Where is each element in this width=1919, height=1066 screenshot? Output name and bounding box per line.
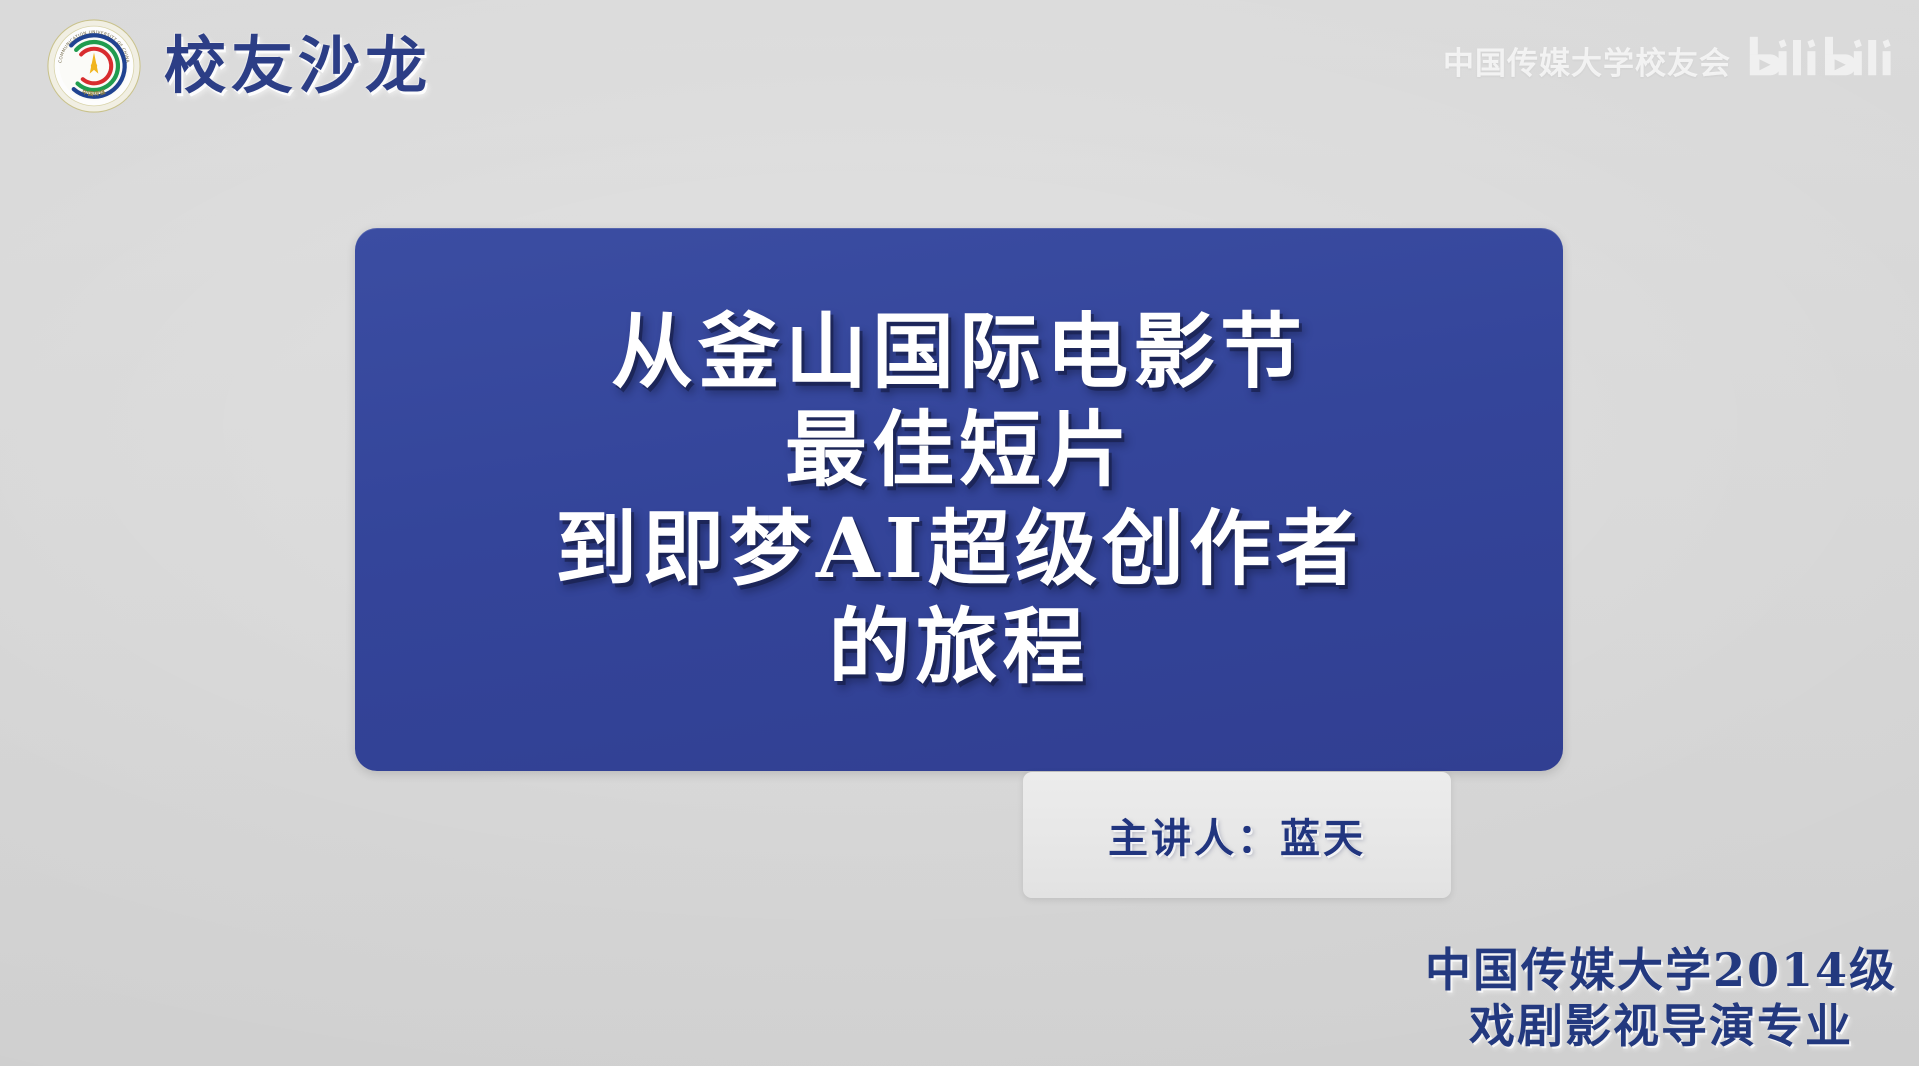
watermark-label: 中国传媒大学校友会 [1443, 38, 1731, 83]
cuc-university-emblem-icon: COMMUNICATION UNIVERSITY OF CHINA 中国传媒 [46, 18, 142, 114]
salon-title: 校友沙龙 [164, 35, 432, 97]
title-line-1: 从釜山国际电影节 [611, 303, 1307, 401]
speaker-box: 主讲人：蓝天 [1023, 772, 1451, 898]
title-line-4: 的旅程 [828, 598, 1089, 696]
affiliation-block: 中国传媒大学2014级 戏剧影视导演专业 [1425, 942, 1897, 1054]
title-line-3: 到即梦AI超级创作者 [555, 500, 1363, 598]
presentation-slide: COMMUNICATION UNIVERSITY OF CHINA 中国传媒 校… [0, 0, 1919, 1066]
title-panel: 从釜山国际电影节 最佳短片 到即梦AI超级创作者 的旅程 [355, 228, 1563, 771]
affiliation-line-2: 戏剧影视导演专业 [1425, 998, 1897, 1054]
slide-header: COMMUNICATION UNIVERSITY OF CHINA 中国传媒 校… [46, 18, 432, 114]
title-line-2: 最佳短片 [785, 401, 1133, 499]
bilibili-logo-icon [1745, 32, 1905, 88]
speaker-label: 主讲人：蓝天 [1108, 806, 1366, 864]
channel-watermark: 中国传媒大学校友会 [1443, 32, 1905, 88]
affiliation-line-1: 中国传媒大学2014级 [1425, 942, 1897, 998]
